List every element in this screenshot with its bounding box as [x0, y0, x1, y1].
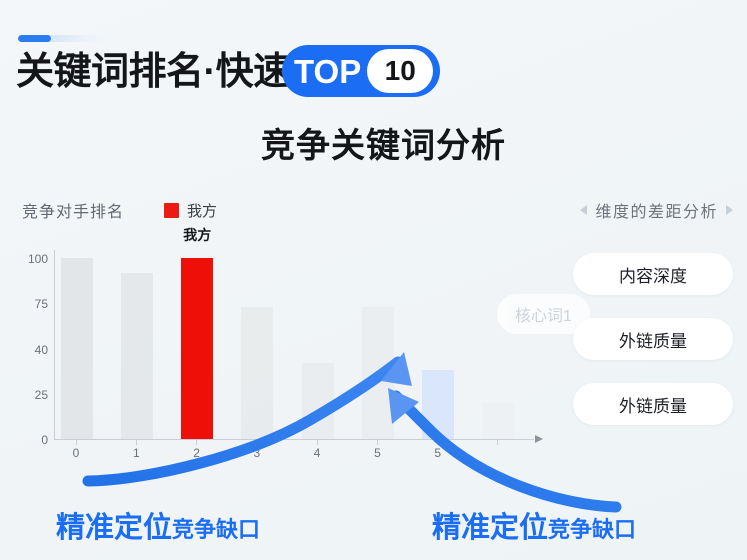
x-axis-tick: 1: [120, 446, 152, 460]
x-axis-tickmark: [120, 440, 152, 445]
chart-axis-title: 竞争对手排名: [22, 198, 124, 222]
bar-group: 我方: [61, 250, 514, 439]
page-title-text: 关键词排名·快速: [16, 53, 291, 91]
x-axis-tickmark: [60, 440, 92, 445]
bar-highlight-mine[interactable]: [181, 258, 213, 439]
y-axis-tick: 0: [14, 433, 48, 447]
panel-heading-text: 维度的差距分析: [595, 198, 718, 222]
y-axis-tick: 25: [14, 388, 48, 402]
legend-item-mine: 我方: [164, 200, 217, 221]
bar-slot: [61, 250, 93, 439]
bar-slot: [241, 250, 273, 439]
bar-chart: 1007540250 我方 0123455: [14, 250, 534, 460]
dimension-pill-3[interactable]: 外链质量: [573, 383, 733, 425]
x-axis-tickmark: [241, 440, 273, 445]
triangle-left-icon: [580, 205, 587, 215]
bar-slot: 我方: [181, 250, 213, 439]
caption-right-strong: 精准定位: [432, 504, 548, 546]
x-axis-tick: 0: [60, 446, 92, 460]
x-axis-tickmark: [301, 440, 333, 445]
x-axis-tickmark: [482, 440, 514, 445]
dimension-pill-1[interactable]: 内容深度: [573, 253, 733, 295]
x-axis-labels: 0123455: [60, 446, 514, 460]
page-subtitle: 竞争关键词分析: [0, 118, 747, 167]
bar-competitor[interactable]: [362, 307, 394, 439]
x-axis-tick: 4: [301, 446, 333, 460]
page-title: 关键词排名·快速: [16, 44, 291, 100]
slide-canvas: 关键词排名·快速 TOP 10 竞争关键词分析 竞争对手排名 我方 维度的差距分…: [0, 0, 747, 560]
bar-slot: [302, 250, 334, 439]
dimension-pill-2[interactable]: 外链质量: [573, 318, 733, 360]
progress-bar-fill: [18, 35, 51, 42]
bar-slot: [121, 250, 153, 439]
chart-legend: 竞争对手排名 我方: [22, 198, 217, 222]
x-axis-tick: 2: [181, 446, 213, 460]
x-axis-tick: 3: [241, 446, 273, 460]
caption-left-weak: 竞争缺口: [172, 512, 260, 544]
top-badge-number: 10: [367, 49, 433, 93]
x-axis-tickmarks: [60, 440, 514, 445]
top-badge: TOP 10: [282, 45, 440, 97]
legend-item-label: 我方: [187, 200, 217, 221]
y-axis-tick: 75: [14, 297, 48, 311]
bar-competitor[interactable]: [482, 403, 514, 439]
x-axis-tickmark: [361, 440, 393, 445]
x-axis-tick: [482, 446, 514, 460]
x-axis-tickmark: [422, 440, 454, 445]
panel-heading: 维度的差距分析: [580, 198, 733, 222]
caption-left-strong: 精准定位: [56, 504, 172, 546]
chart-plot-area: 我方: [54, 250, 534, 440]
dimension-pill-list: 内容深度外链质量外链质量: [573, 253, 733, 425]
y-axis-tick: 40: [14, 343, 48, 357]
caption-right: 精准定位 竞争缺口: [432, 504, 636, 546]
bar-slot: [422, 250, 454, 439]
y-axis-tick: 100: [14, 252, 48, 266]
triangle-right-icon: [726, 205, 733, 215]
x-axis-tick: 5: [422, 446, 454, 460]
bar-slot: [482, 250, 514, 439]
progress-bar: [18, 35, 110, 42]
bar-competitor[interactable]: [302, 363, 334, 439]
bar-competitor[interactable]: [121, 273, 153, 439]
bar-competitor[interactable]: [241, 307, 273, 439]
top-badge-label: TOP: [292, 55, 367, 88]
bar-target-gap[interactable]: [422, 370, 454, 439]
y-axis-labels: 1007540250: [14, 250, 48, 440]
x-axis-arrow-icon: [535, 435, 543, 443]
bar-highlight-label: 我方: [183, 225, 211, 245]
x-axis-tickmark: [181, 440, 213, 445]
legend-swatch-icon: [164, 203, 179, 218]
caption-right-weak: 竞争缺口: [548, 512, 636, 544]
x-axis-tick: 5: [361, 446, 393, 460]
caption-left: 精准定位 竞争缺口: [56, 504, 260, 546]
bar-competitor[interactable]: [61, 258, 93, 439]
bar-slot: [362, 250, 394, 439]
